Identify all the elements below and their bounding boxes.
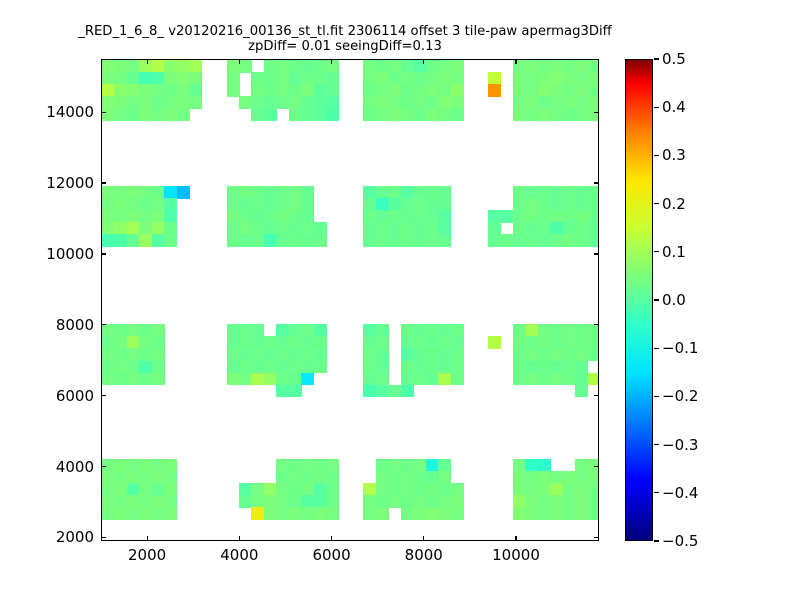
heatmap-cell xyxy=(388,234,401,247)
heatmap-cell xyxy=(127,483,140,496)
heatmap-cell xyxy=(563,198,576,211)
heatmap-cell xyxy=(239,483,252,496)
heatmap-cell xyxy=(227,186,240,199)
heatmap-cell xyxy=(513,471,526,484)
heatmap-cell xyxy=(513,459,526,472)
heatmap-cell xyxy=(538,84,551,97)
heatmap-cell xyxy=(451,373,464,386)
heatmap-cell xyxy=(127,471,140,484)
heatmap-cell xyxy=(575,234,588,247)
heatmap-cell xyxy=(538,198,551,211)
heatmap-cell xyxy=(289,84,302,97)
heatmap-cell xyxy=(550,96,563,109)
heatmap-cell xyxy=(538,72,551,85)
heatmap-cell xyxy=(289,373,302,386)
heatmap-cell xyxy=(314,84,327,97)
heatmap-cell xyxy=(114,336,127,349)
heatmap-cell xyxy=(413,108,426,121)
heatmap-cell xyxy=(289,495,302,508)
heatmap-cell xyxy=(401,222,414,235)
heatmap-cell xyxy=(525,96,538,109)
heatmap-cell xyxy=(451,108,464,121)
heatmap-cell xyxy=(139,373,152,386)
heatmap-cell xyxy=(276,361,289,374)
heatmap-cell xyxy=(563,373,576,386)
heatmap-cell xyxy=(513,373,526,386)
heatmap-cell xyxy=(588,507,599,520)
heatmap-cell xyxy=(276,222,289,235)
heatmap-cell xyxy=(314,234,327,247)
heatmap-cell xyxy=(164,507,177,520)
heatmap-cell xyxy=(550,324,563,337)
heatmap-cell xyxy=(438,186,451,199)
heatmap-cell xyxy=(438,507,451,520)
heatmap-cell xyxy=(276,198,289,211)
heatmap-cell xyxy=(550,348,563,361)
heatmap-cell xyxy=(102,507,115,520)
heatmap-cell xyxy=(114,471,127,484)
heatmap-cell xyxy=(388,222,401,235)
heatmap-cell xyxy=(102,60,115,73)
heatmap-cell xyxy=(114,234,127,247)
heatmap-cell xyxy=(227,60,240,73)
heatmap-cell xyxy=(239,348,252,361)
heatmap-cell xyxy=(164,483,177,496)
heatmap-cell xyxy=(326,471,339,484)
x-tick xyxy=(423,536,424,541)
heatmap-cell xyxy=(538,108,551,121)
heatmap-cell xyxy=(152,459,165,472)
heatmap-cell xyxy=(438,373,451,386)
heatmap-cell xyxy=(301,348,314,361)
heatmap-axes[interactable] xyxy=(101,59,599,541)
heatmap-cell xyxy=(388,96,401,109)
y-tick-right xyxy=(594,466,599,467)
heatmap-cell xyxy=(588,72,599,85)
heatmap-cell xyxy=(488,72,501,85)
heatmap-cell xyxy=(102,84,115,97)
heatmap-cell xyxy=(152,210,165,223)
heatmap-cell xyxy=(588,186,599,199)
heatmap-cell xyxy=(152,507,165,520)
heatmap-cell xyxy=(413,210,426,223)
heatmap-cell xyxy=(177,186,190,199)
heatmap-cell xyxy=(438,108,451,121)
colorbar-tick xyxy=(654,348,659,349)
heatmap-cell xyxy=(438,348,451,361)
heatmap-cell xyxy=(513,483,526,496)
heatmap-cell xyxy=(264,507,277,520)
heatmap-cell xyxy=(563,507,576,520)
y-tick-label: 8000 xyxy=(56,316,94,334)
x-tick-top xyxy=(331,59,332,64)
heatmap-cell xyxy=(276,483,289,496)
heatmap-cell xyxy=(413,222,426,235)
heatmap-cell xyxy=(289,336,302,349)
heatmap-cell xyxy=(102,324,115,337)
heatmap-cell xyxy=(513,96,526,109)
heatmap-cell xyxy=(401,348,414,361)
heatmap-cell xyxy=(227,348,240,361)
x-tick-label: 2000 xyxy=(128,546,166,564)
heatmap-cell xyxy=(363,108,376,121)
y-tick xyxy=(101,466,106,467)
heatmap-cell xyxy=(326,60,339,73)
heatmap-cell xyxy=(251,210,264,223)
heatmap-cell xyxy=(525,186,538,199)
heatmap-cell xyxy=(314,222,327,235)
heatmap-cell xyxy=(102,198,115,211)
heatmap-cell xyxy=(513,324,526,337)
colorbar[interactable] xyxy=(625,59,653,541)
colorbar-tick-label: −0.4 xyxy=(662,484,698,502)
heatmap-cell xyxy=(451,60,464,73)
heatmap-cell xyxy=(550,336,563,349)
heatmap-cell xyxy=(264,495,277,508)
heatmap-cell xyxy=(488,336,501,349)
heatmap-cell xyxy=(363,60,376,73)
heatmap-cell xyxy=(164,96,177,109)
heatmap-cell xyxy=(164,198,177,211)
heatmap-cell xyxy=(289,459,302,472)
colorbar-tick xyxy=(654,155,659,156)
heatmap-cell xyxy=(127,72,140,85)
colorbar-tick xyxy=(654,251,659,252)
heatmap-cell xyxy=(575,210,588,223)
heatmap-cell xyxy=(401,373,414,386)
heatmap-cell xyxy=(376,60,389,73)
heatmap-cell xyxy=(189,60,202,73)
heatmap-cell xyxy=(276,348,289,361)
heatmap-cell xyxy=(152,471,165,484)
heatmap-cell xyxy=(588,234,599,247)
heatmap-cell xyxy=(376,336,389,349)
heatmap-cell xyxy=(276,60,289,73)
heatmap-cell xyxy=(139,471,152,484)
colorbar-tick-label: 0.4 xyxy=(662,98,686,116)
heatmap-cell xyxy=(388,210,401,223)
heatmap-cell xyxy=(326,72,339,85)
heatmap-cell xyxy=(251,96,264,109)
heatmap-cell xyxy=(588,108,599,121)
heatmap-cell xyxy=(152,60,165,73)
heatmap-cell xyxy=(102,361,115,374)
heatmap-cell xyxy=(550,373,563,386)
heatmap-cell xyxy=(550,186,563,199)
heatmap-cell xyxy=(550,198,563,211)
heatmap-cell xyxy=(525,108,538,121)
heatmap-cell xyxy=(538,336,551,349)
heatmap-cell xyxy=(139,108,152,121)
heatmap-cell xyxy=(301,186,314,199)
heatmap-cell xyxy=(538,348,551,361)
heatmap-cell xyxy=(301,507,314,520)
heatmap-cell xyxy=(401,186,414,199)
heatmap-cell xyxy=(575,495,588,508)
heatmap-cell xyxy=(289,483,302,496)
heatmap-cell xyxy=(314,60,327,73)
heatmap-cell xyxy=(563,471,576,484)
heatmap-cell xyxy=(388,186,401,199)
heatmap-cell xyxy=(401,210,414,223)
heatmap-cell xyxy=(388,60,401,73)
heatmap-cell xyxy=(289,198,302,211)
heatmap-cell xyxy=(525,60,538,73)
heatmap-cell xyxy=(588,96,599,109)
heatmap-cell xyxy=(301,108,314,121)
colorbar-tick-label: −0.5 xyxy=(662,532,698,550)
heatmap-cell xyxy=(227,84,240,97)
heatmap-cell xyxy=(376,385,389,398)
heatmap-cell xyxy=(114,348,127,361)
plot-title: _RED_1_6_8_ v20120216_00136_st_tl.fit 23… xyxy=(0,24,690,54)
heatmap-cell xyxy=(451,324,464,337)
heatmap-cell xyxy=(525,361,538,374)
heatmap-cell xyxy=(538,96,551,109)
heatmap-cell xyxy=(102,72,115,85)
heatmap-cell xyxy=(550,60,563,73)
heatmap-cell xyxy=(289,108,302,121)
heatmap-cell xyxy=(152,361,165,374)
heatmap-cell xyxy=(563,361,576,374)
heatmap-cell xyxy=(538,60,551,73)
heatmap-cell xyxy=(513,72,526,85)
colorbar-tick xyxy=(654,444,659,445)
heatmap-cell xyxy=(239,361,252,374)
heatmap-cell xyxy=(301,336,314,349)
heatmap-cell xyxy=(563,84,576,97)
heatmap-cell xyxy=(401,495,414,508)
heatmap-cell xyxy=(276,84,289,97)
heatmap-cell xyxy=(326,495,339,508)
heatmap-cell xyxy=(289,348,302,361)
heatmap-cell xyxy=(575,108,588,121)
heatmap-cell xyxy=(563,108,576,121)
heatmap-cell xyxy=(525,348,538,361)
heatmap-cell xyxy=(139,96,152,109)
heatmap-cell xyxy=(376,108,389,121)
heatmap-cell xyxy=(376,84,389,97)
heatmap-cell xyxy=(127,210,140,223)
heatmap-cell xyxy=(264,60,277,73)
heatmap-cell xyxy=(114,507,127,520)
heatmap-cell xyxy=(451,483,464,496)
heatmap-cell xyxy=(438,495,451,508)
heatmap-cell xyxy=(152,348,165,361)
heatmap-cell xyxy=(376,210,389,223)
heatmap-cell xyxy=(114,483,127,496)
heatmap-cell xyxy=(413,84,426,97)
heatmap-cell xyxy=(588,495,599,508)
x-tick-label: 10000 xyxy=(492,546,540,564)
colorbar-tick xyxy=(654,203,659,204)
heatmap-cell xyxy=(102,186,115,199)
heatmap-cell xyxy=(388,459,401,472)
y-tick-right xyxy=(594,537,599,538)
heatmap-cell xyxy=(513,84,526,97)
heatmap-cell xyxy=(588,222,599,235)
heatmap-cell xyxy=(276,459,289,472)
heatmap-cell xyxy=(239,222,252,235)
heatmap-cell xyxy=(239,186,252,199)
heatmap-cell xyxy=(451,361,464,374)
heatmap-cell xyxy=(164,471,177,484)
heatmap-cell xyxy=(102,210,115,223)
heatmap-cell xyxy=(426,84,439,97)
heatmap-cell xyxy=(575,186,588,199)
heatmap-cell xyxy=(127,361,140,374)
heatmap-cell xyxy=(376,348,389,361)
heatmap-cell xyxy=(513,348,526,361)
heatmap-cell xyxy=(164,108,177,121)
heatmap-cell xyxy=(376,96,389,109)
heatmap-cell xyxy=(401,72,414,85)
heatmap-cell xyxy=(426,222,439,235)
heatmap-cell xyxy=(363,373,376,386)
heatmap-cell xyxy=(575,483,588,496)
heatmap-cell xyxy=(139,336,152,349)
heatmap-cell xyxy=(426,72,439,85)
x-tick xyxy=(331,536,332,541)
heatmap-cell xyxy=(189,84,202,97)
heatmap-cell xyxy=(127,60,140,73)
heatmap-cell xyxy=(438,210,451,223)
heatmap-cell xyxy=(388,198,401,211)
y-tick-label: 14000 xyxy=(46,103,94,121)
heatmap-cell xyxy=(289,186,302,199)
heatmap-cell xyxy=(164,186,177,199)
heatmap-cell xyxy=(314,471,327,484)
heatmap-cell xyxy=(388,72,401,85)
heatmap-cell xyxy=(301,459,314,472)
heatmap-cell xyxy=(376,373,389,386)
heatmap-cell xyxy=(276,210,289,223)
heatmap-cell xyxy=(301,324,314,337)
heatmap-cell xyxy=(114,198,127,211)
heatmap-cell xyxy=(376,222,389,235)
y-tick xyxy=(101,395,106,396)
heatmap-cell xyxy=(376,507,389,520)
heatmap-cell xyxy=(264,483,277,496)
heatmap-cell xyxy=(563,495,576,508)
heatmap-cell xyxy=(550,361,563,374)
heatmap-cell xyxy=(301,72,314,85)
heatmap-cell xyxy=(264,361,277,374)
heatmap-cell xyxy=(451,84,464,97)
heatmap-cell xyxy=(127,108,140,121)
heatmap-cell xyxy=(164,84,177,97)
heatmap-cell xyxy=(152,72,165,85)
heatmap-cell xyxy=(538,222,551,235)
heatmap-cell xyxy=(563,210,576,223)
colorbar-tick-label: 0.3 xyxy=(662,146,686,164)
heatmap-cell xyxy=(363,210,376,223)
heatmap-cell xyxy=(301,483,314,496)
heatmap-cell xyxy=(538,234,551,247)
heatmap-cell xyxy=(525,234,538,247)
heatmap-cell xyxy=(513,495,526,508)
heatmap-cell xyxy=(588,324,599,337)
heatmap-cell xyxy=(139,459,152,472)
heatmap-cell xyxy=(251,186,264,199)
x-tick-label: 8000 xyxy=(405,546,443,564)
heatmap-cell xyxy=(127,507,140,520)
heatmap-cell xyxy=(239,336,252,349)
heatmap-cell xyxy=(314,459,327,472)
heatmap-cell xyxy=(139,210,152,223)
heatmap-cell xyxy=(289,60,302,73)
heatmap-cell xyxy=(301,361,314,374)
heatmap-cell xyxy=(563,234,576,247)
heatmap-cell xyxy=(376,361,389,374)
heatmap-cell xyxy=(152,495,165,508)
heatmap-cell xyxy=(538,459,551,472)
heatmap-cell xyxy=(588,373,599,386)
heatmap-cell xyxy=(363,324,376,337)
y-tick-label: 12000 xyxy=(46,174,94,192)
heatmap-cell xyxy=(239,324,252,337)
heatmap-cell xyxy=(363,198,376,211)
colorbar-tick xyxy=(654,58,659,59)
heatmap-cell xyxy=(513,234,526,247)
heatmap-cell xyxy=(488,210,501,223)
heatmap-cell xyxy=(102,222,115,235)
heatmap-cell xyxy=(152,108,165,121)
y-tick-right xyxy=(594,253,599,254)
heatmap-cell xyxy=(139,72,152,85)
heatmap-cell xyxy=(127,234,140,247)
heatmap-cell xyxy=(264,222,277,235)
heatmap-cell xyxy=(550,495,563,508)
heatmap-cell xyxy=(326,483,339,496)
heatmap-cell xyxy=(363,385,376,398)
colorbar-tick-label: 0.2 xyxy=(662,195,686,213)
heatmap-cell xyxy=(363,348,376,361)
heatmap-cell xyxy=(563,324,576,337)
heatmap-cell xyxy=(139,495,152,508)
heatmap-cell xyxy=(152,96,165,109)
heatmap-cell xyxy=(326,459,339,472)
y-tick xyxy=(101,112,106,113)
heatmap-cell xyxy=(152,198,165,211)
heatmap-cell xyxy=(301,198,314,211)
heatmap-cell xyxy=(264,336,277,349)
x-tick-top xyxy=(423,59,424,64)
heatmap-cell xyxy=(438,60,451,73)
heatmap-cell xyxy=(513,210,526,223)
colorbar-tick xyxy=(654,540,659,541)
heatmap-cell xyxy=(438,459,451,472)
heatmap-cell xyxy=(388,84,401,97)
heatmap-cell xyxy=(525,324,538,337)
heatmap-cell xyxy=(413,495,426,508)
heatmap-cell xyxy=(376,72,389,85)
heatmap-cell xyxy=(127,348,140,361)
heatmap-cell xyxy=(264,96,277,109)
heatmap-cell xyxy=(550,507,563,520)
y-tick-right xyxy=(594,182,599,183)
heatmap-cell xyxy=(426,471,439,484)
heatmap-cell xyxy=(588,210,599,223)
heatmap-cell xyxy=(139,507,152,520)
heatmap-cell xyxy=(239,495,252,508)
heatmap-cell xyxy=(363,361,376,374)
heatmap-cell xyxy=(177,108,190,121)
y-tick xyxy=(101,253,106,254)
heatmap-cell xyxy=(513,222,526,235)
heatmap-cell xyxy=(177,84,190,97)
heatmap-cell xyxy=(164,210,177,223)
